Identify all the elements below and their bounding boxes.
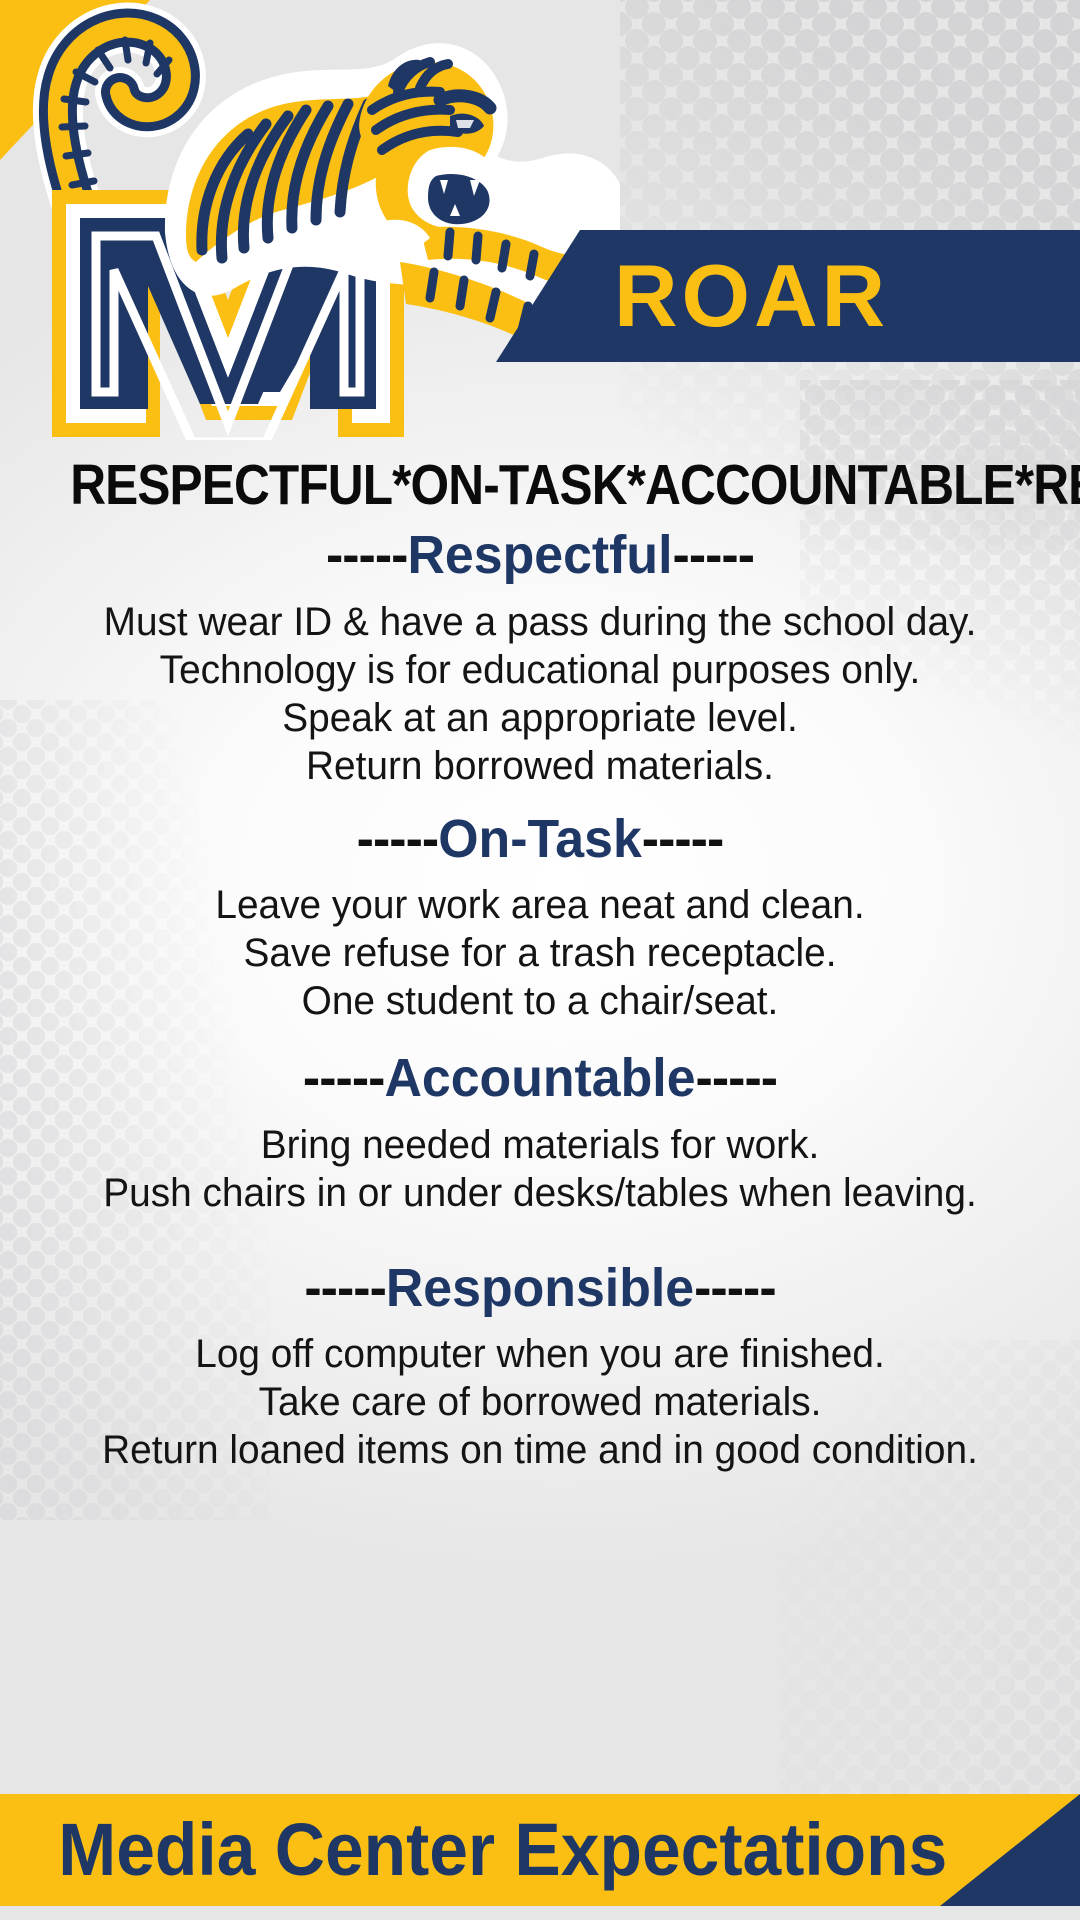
heading-word: Accountable (384, 1048, 695, 1108)
section-heading-respectful: -----Respectful----- (22, 528, 1059, 584)
footer-banner: Media Center Expectations (0, 1794, 1080, 1906)
list-item: Push chairs in or under desks/tables whe… (16, 1169, 1064, 1217)
section-heading-on-task: -----On-Task----- (22, 812, 1059, 868)
dash-left: ----- (303, 1048, 385, 1108)
dash-right: ----- (696, 1048, 778, 1108)
list-item: Technology is for educational purposes o… (16, 646, 1064, 694)
section-respectful: -----Respectful----- Must wear ID & have… (0, 528, 1080, 790)
school-logo (0, 0, 620, 440)
roar-banner: ROAR (496, 230, 1080, 362)
list-item: Speak at an appropriate level. (16, 694, 1064, 742)
section-responsible: -----Responsible----- Log off computer w… (0, 1261, 1080, 1475)
heading-word: On-Task (438, 809, 642, 869)
list-item: One student to a chair/seat. (16, 977, 1064, 1025)
dash-left: ----- (304, 1258, 386, 1318)
acronym-strip: RESPECTFUL*ON-TASK*ACCOUNTABLE*RESPONSIB… (70, 452, 1010, 518)
list-item: Log off computer when you are finished. (16, 1330, 1064, 1378)
roar-banner-label: ROAR (614, 252, 889, 340)
heading-word: Responsible (386, 1258, 694, 1318)
list-item: Take care of borrowed materials. (16, 1378, 1064, 1426)
section-heading-responsible: -----Responsible----- (22, 1261, 1059, 1317)
list-item: Must wear ID & have a pass during the sc… (16, 598, 1064, 646)
section-accountable: -----Accountable----- Bring needed mater… (0, 1051, 1080, 1217)
heading-word: Respectful (407, 525, 672, 585)
dash-right: ----- (694, 1258, 776, 1318)
dash-left: ----- (357, 809, 439, 869)
footer-title: Media Center Expectations (0, 1794, 1015, 1906)
tiger-mascot-and-m-logo (0, 0, 620, 440)
dash-right: ----- (673, 525, 755, 585)
section-heading-accountable: -----Accountable----- (22, 1051, 1059, 1107)
poster-canvas: ROAR RESPECTFUL*ON-TASK*ACCOUNTABLE*RESP… (0, 0, 1080, 1920)
dash-right: ----- (642, 809, 724, 869)
list-item: Return loaned items on time and in good … (16, 1426, 1064, 1474)
list-item: Leave your work area neat and clean. (16, 881, 1064, 929)
dash-left: ----- (326, 525, 408, 585)
list-item: Return borrowed materials. (16, 742, 1064, 790)
list-item: Bring needed materials for work. (16, 1121, 1064, 1169)
expectations-list: -----Respectful----- Must wear ID & have… (0, 528, 1080, 1474)
list-item: Save refuse for a trash receptacle. (16, 929, 1064, 977)
section-on-task: -----On-Task----- Leave your work area n… (0, 812, 1080, 1026)
